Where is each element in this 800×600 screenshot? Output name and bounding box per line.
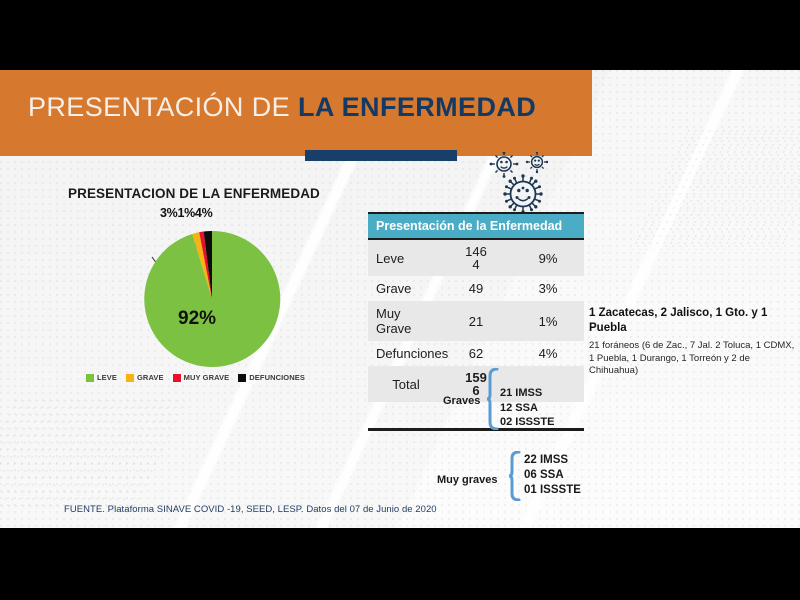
row-pct-leve: 9% [512,239,584,276]
legend-label-muy-grave: MUY GRAVE [184,373,230,382]
brace-muy-graves-icon [508,451,522,501]
header-accent-bar [305,150,457,161]
row-value-defunciones: 62 [440,341,512,366]
slide: PRESENTACIÓN DE LA ENFERMEDAD [0,70,800,528]
slide-stage: PRESENTACIÓN DE LA ENFERMEDAD [0,0,800,600]
row-value-grave: 49 [440,276,512,301]
letterbox-bottom [0,528,800,600]
brace-item: 21 IMSS [500,386,554,401]
brace-item: 06 SSA [524,468,581,483]
legend-swatch-grave [126,374,134,382]
brace-item: 01 ISSSTE [524,483,581,498]
legend-swatch-leve [86,374,94,382]
row-label-defunciones: Defunciones [368,341,440,366]
legend-swatch-defunciones [238,374,246,382]
row-pct-grave: 3% [512,276,584,301]
row-label-muy-grave: Muy Grave [368,301,440,341]
pie-label-leve: 92% [178,308,216,330]
row-label-total: Total [368,366,440,402]
legend-label-grave: GRAVE [137,373,164,382]
presentation-table: Presentación de la Enfermedad Leve 146 4… [368,212,584,402]
virus-icon [487,152,559,214]
pie-chart [138,225,286,373]
row-pct-muy-grave: 1% [512,301,584,341]
brace-items-graves: 21 IMSS 12 SSA 02 ISSSTE [500,386,554,430]
brace-graves-icon [486,368,500,430]
brace-item: 22 IMSS [524,453,581,468]
table-row: Leve 146 4 9% [368,239,584,276]
legend-item-muy-grave: MUY GRAVE [173,373,230,382]
chart-legend: LEVE GRAVE MUY GRAVE DEFUNCIONES [86,373,316,382]
note-foraneos: 21 foráneos (6 de Zac., 7 Jal. 2 Toluca,… [589,340,797,378]
legend-item-defunciones: DEFUNCIONES [238,373,305,382]
table-header-row: Presentación de la Enfermedad [368,213,584,239]
brace-label-graves: Graves [443,395,480,407]
legend-label-defunciones: DEFUNCIONES [249,373,305,382]
row-pct-defunciones: 4% [512,341,584,366]
chart-title: PRESENTACION DE LA ENFERMEDAD [68,186,368,201]
pie-label-minor-slices: 3%1%4% [160,206,212,220]
page-title-bold: LA ENFERMEDAD [298,92,536,122]
row-value-muy-grave: 21 [440,301,512,341]
page-title: PRESENTACIÓN DE LA ENFERMEDAD [28,92,536,123]
brace-items-muy-graves: 22 IMSS 06 SSA 01 ISSSTE [524,453,581,499]
legend-swatch-muy-grave [173,374,181,382]
row-value-leve-line2: 4 [444,258,508,271]
note-states-bold: 1 Zacatecas, 2 Jalisco, 1 Gto. y 1 Puebl… [589,306,795,335]
legend-item-grave: GRAVE [126,373,164,382]
brace-item: 12 SSA [500,401,554,416]
table-row: Muy Grave 21 1% [368,301,584,341]
page-title-light: PRESENTACIÓN DE [28,92,298,122]
pie-slice-leve [144,231,280,367]
brace-label-muy-graves: Muy graves [437,474,498,486]
legend-label-leve: LEVE [97,373,117,382]
table-row: Defunciones 62 4% [368,341,584,366]
row-label-leve: Leve [368,239,440,276]
table-row: Grave 49 3% [368,276,584,301]
table-header-title: Presentación de la Enfermedad [368,213,584,239]
brace-item: 02 ISSSTE [500,415,554,430]
row-value-leve: 146 4 [440,239,512,276]
letterbox-top [0,0,800,70]
row-label-grave: Grave [368,276,440,301]
legend-item-leve: LEVE [86,373,117,382]
source-footer: FUENTE. Plataforma SINAVE COVID -19, SEE… [64,504,437,515]
